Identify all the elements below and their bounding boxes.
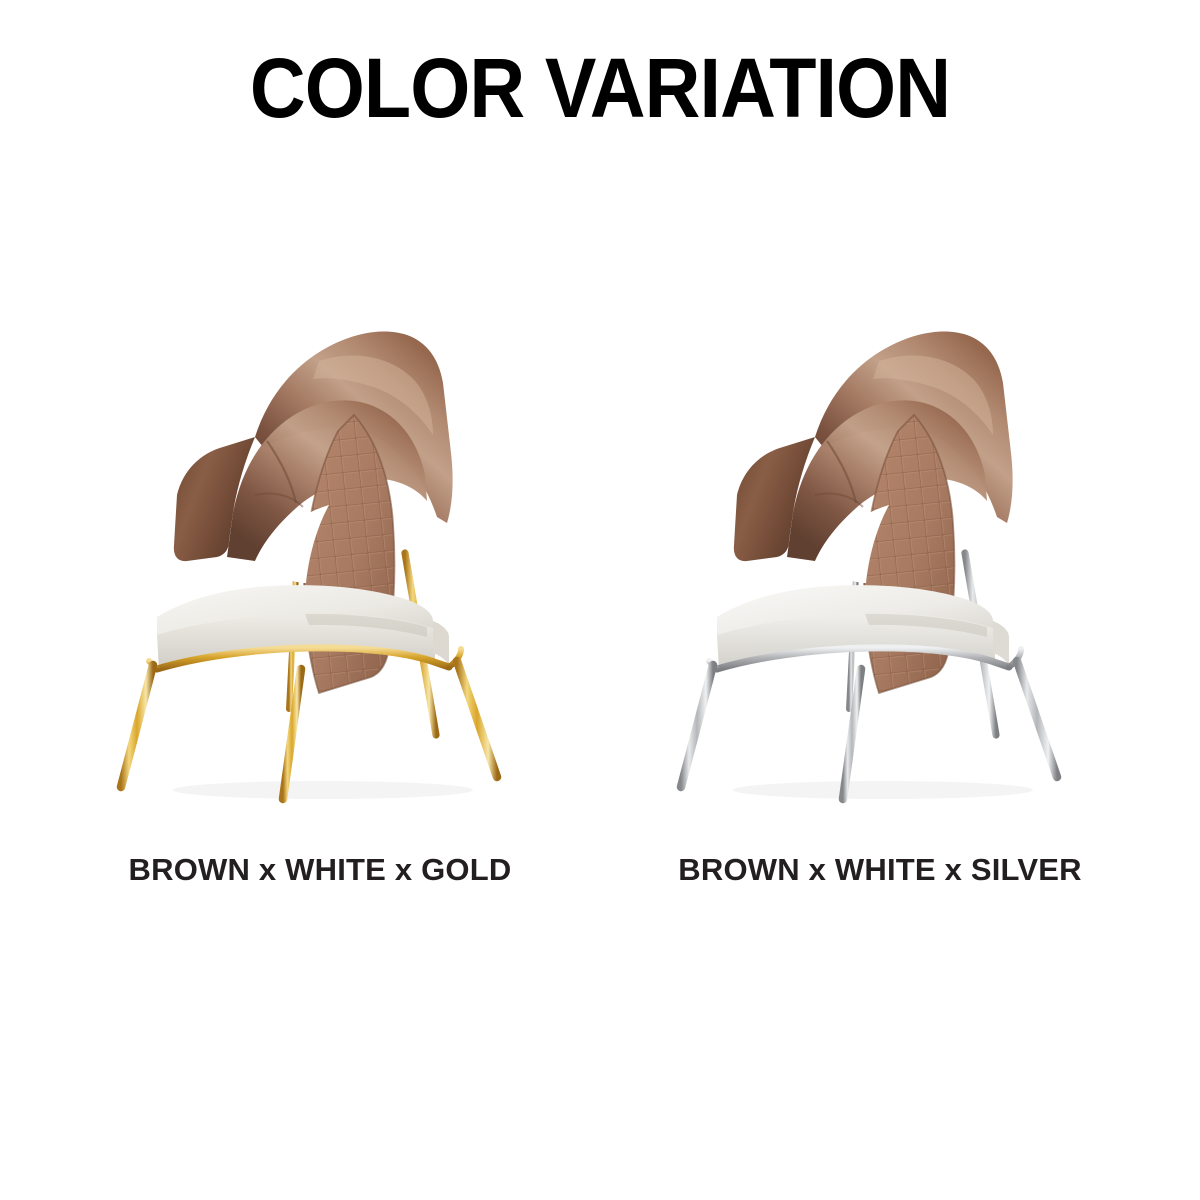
variant-card-gold[interactable]: BROWN x WHITE x GOLD — [40, 265, 600, 888]
product-color-variation-page: COLOR VARIATION — [0, 0, 1200, 1200]
page-title: COLOR VARIATION — [48, 46, 1152, 132]
chair-image-silver[interactable] — [665, 265, 1095, 810]
variant-caption-silver: BROWN x WHITE x SILVER — [678, 852, 1081, 888]
variant-gallery: BROWN x WHITE x GOLD — [0, 265, 1200, 888]
floor-shadow — [173, 781, 473, 799]
floor-shadow — [733, 781, 1033, 799]
chair-leg-front-left — [681, 665, 713, 787]
seat-cushion-side — [433, 621, 449, 665]
variant-caption-gold: BROWN x WHITE x GOLD — [129, 852, 512, 888]
chair-leg-front-left — [121, 665, 153, 787]
chair-image-gold[interactable] — [105, 265, 535, 810]
chair-leg-front-right — [457, 661, 497, 777]
variant-card-silver[interactable]: BROWN x WHITE x SILVER — [600, 265, 1160, 888]
dining-chair-icon — [665, 265, 1095, 810]
chair-leg-front-right — [1017, 661, 1057, 777]
dining-chair-icon — [105, 265, 535, 810]
seat-cushion-side — [993, 621, 1009, 665]
